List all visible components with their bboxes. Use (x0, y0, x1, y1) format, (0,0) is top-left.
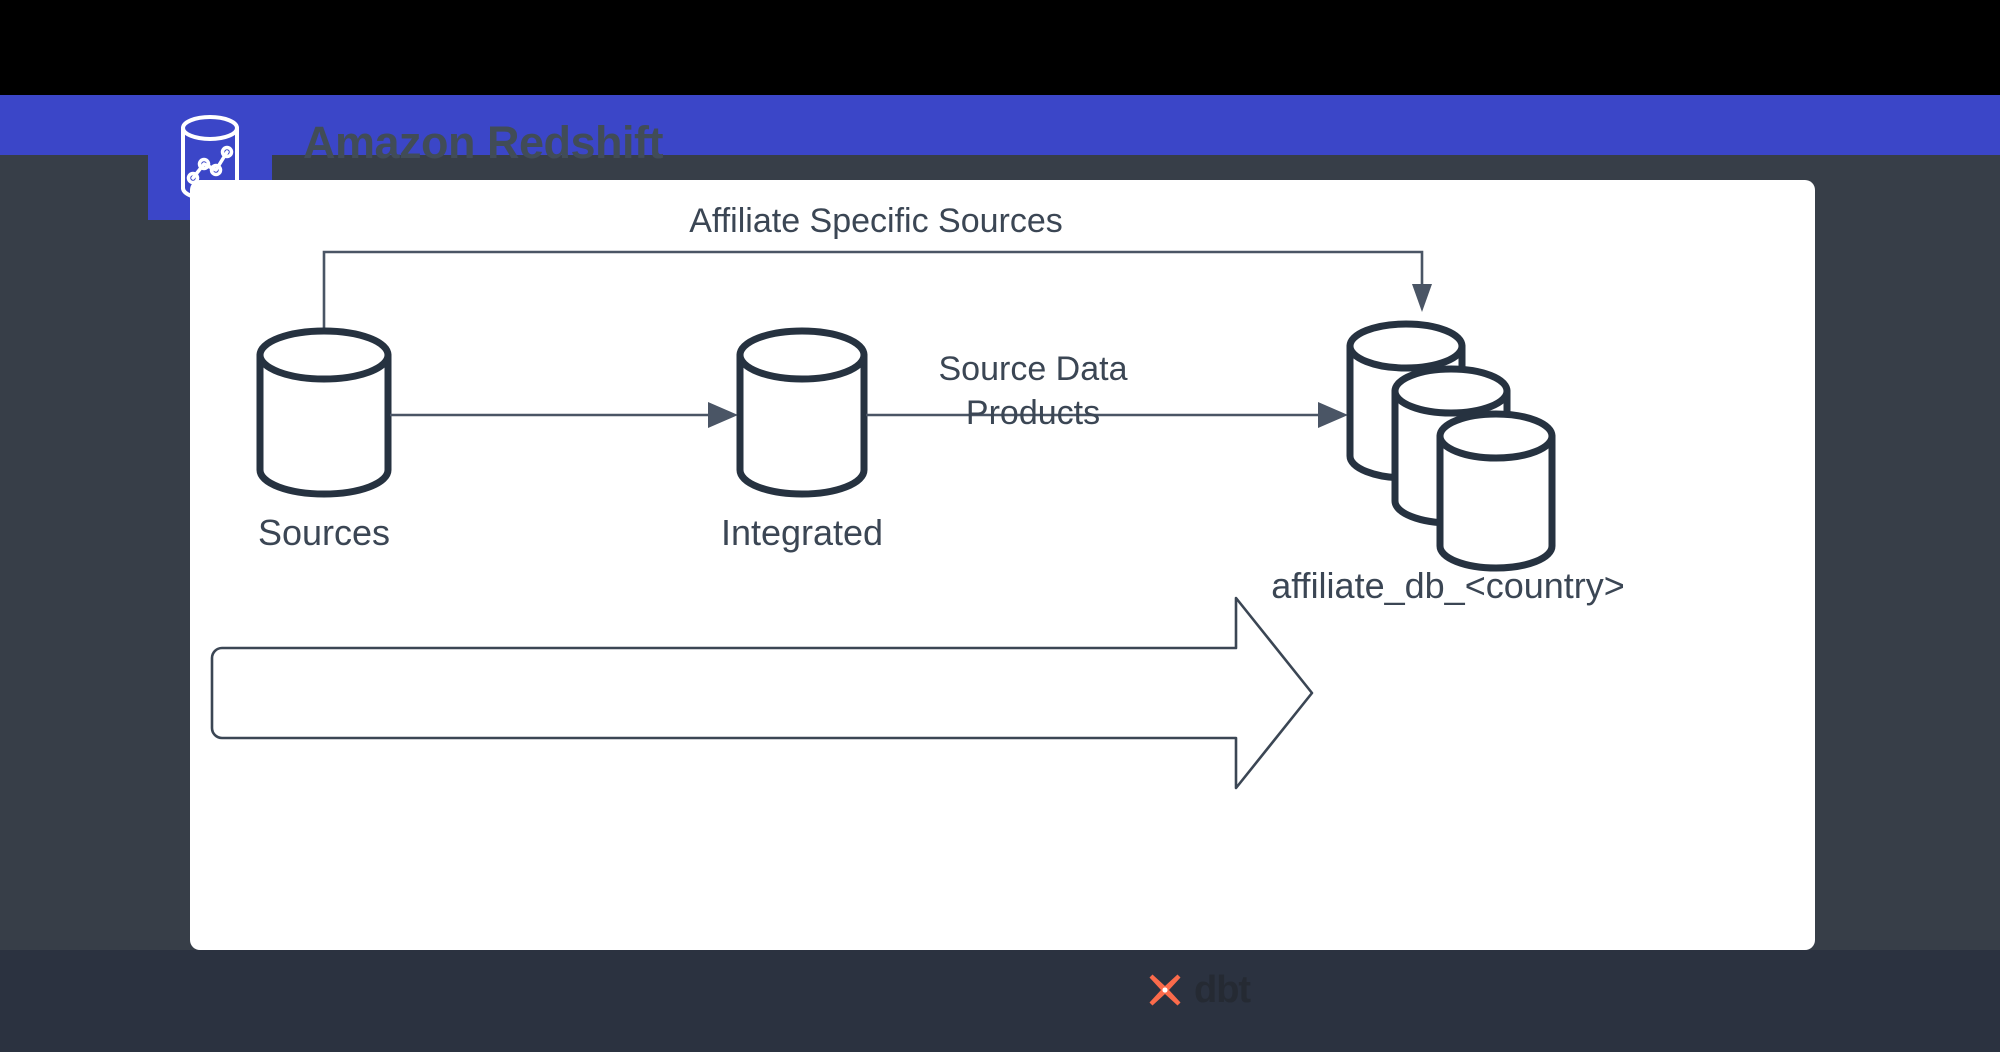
dbt-x-mark (1145, 970, 1185, 1010)
edge-sources-to-integrated (390, 402, 738, 428)
architecture-diagram: Sources Integrated (190, 180, 1815, 950)
edge-source-data-products (866, 402, 1348, 428)
dbt-process-arrow (212, 598, 1312, 788)
node-affiliate-db-stack (1350, 324, 1552, 568)
header-blue-banner (0, 95, 2000, 155)
background-slate-lower (0, 950, 2000, 1052)
node-integrated (740, 331, 864, 494)
dbt-wordmark-text: dbt (1194, 971, 1250, 1009)
node-sources (260, 331, 388, 494)
dbt-logo: dbt (1145, 970, 1250, 1010)
diagram-card: Sources Integrated (190, 180, 1815, 950)
edge-affiliate-specific-sources (324, 252, 1432, 332)
edge-label-products: Products (966, 394, 1100, 432)
node-label-sources: Sources (258, 512, 390, 553)
page-title: Amazon Redshift (303, 120, 663, 165)
edge-label-affiliate-specific-sources: Affiliate Specific Sources (689, 202, 1063, 240)
node-label-affiliate-db: affiliate_db_<country> (1271, 565, 1625, 606)
edge-label-source-data: Source Data (939, 350, 1128, 388)
node-label-integrated: Integrated (721, 512, 883, 553)
top-black-band (0, 0, 2000, 95)
screenshot-root: Amazon Redshift Sources (0, 0, 2000, 1052)
